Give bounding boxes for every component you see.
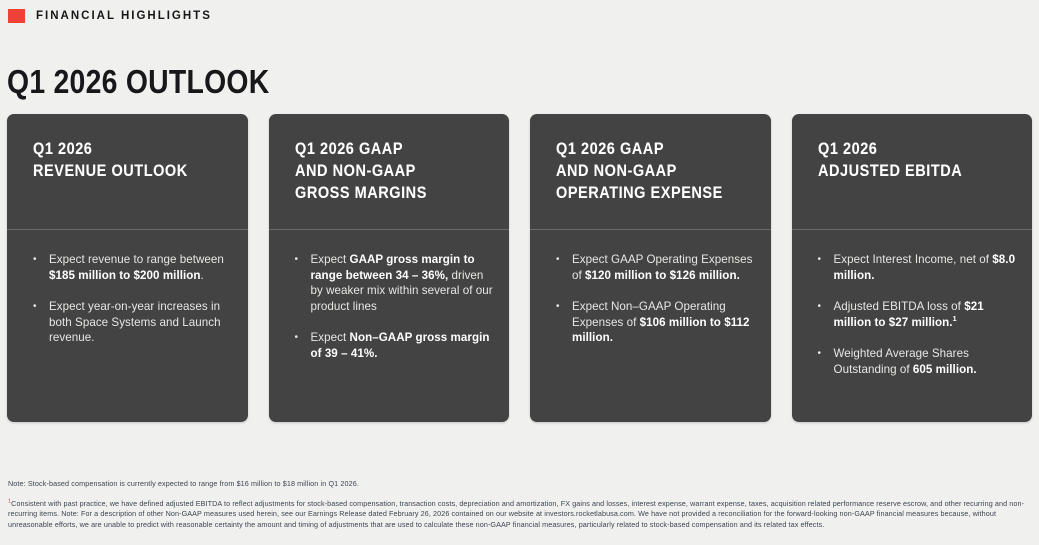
footnote-note: Note: Stock-based compensation is curren…: [8, 479, 1032, 489]
card-title: Q1 2026 GAAP AND NON-GAAP OPERATING EXPE…: [556, 138, 729, 204]
red-square-icon: [8, 9, 25, 23]
list-item: Adjusted EBITDA loss of $21 million to $…: [818, 299, 1017, 330]
card-title: Q1 2026 REVENUE OUTLOOK: [33, 138, 206, 182]
card-body: Expect GAAP gross margin to range betwee…: [269, 230, 510, 422]
card-title: Q1 2026 GAAP AND NON-GAAP GROSS MARGINS: [295, 138, 468, 204]
card-gross-margins: Q1 2026 GAAP AND NON-GAAP GROSS MARGINS …: [269, 114, 510, 422]
list-item: Expect GAAP Operating Expenses of $120 m…: [556, 252, 755, 283]
kicker-label: FINANCIAL HIGHLIGHTS: [36, 9, 212, 23]
bullet-list: Expect revenue to range between $185 mil…: [33, 252, 232, 346]
card-body: Expect revenue to range between $185 mil…: [7, 230, 248, 422]
card-operating-expense: Q1 2026 GAAP AND NON-GAAP OPERATING EXPE…: [530, 114, 771, 422]
list-item: Expect year-on-year increases in both Sp…: [33, 299, 232, 346]
list-item: Expect Non–GAAP Operating Expenses of $1…: [556, 299, 755, 346]
card-body: Expect GAAP Operating Expenses of $120 m…: [530, 230, 771, 422]
bullet-list: Expect Interest Income, net of $8.0 mill…: [818, 252, 1017, 377]
card-revenue-outlook: Q1 2026 REVENUE OUTLOOK Expect revenue t…: [7, 114, 248, 422]
list-item: Weighted Average Shares Outstanding of 6…: [818, 346, 1017, 377]
outlook-card-row: Q1 2026 REVENUE OUTLOOK Expect revenue t…: [7, 114, 1032, 422]
card-header: Q1 2026 GAAP AND NON-GAAP OPERATING EXPE…: [530, 114, 771, 230]
page-title: Q1 2026 OUTLOOK: [7, 64, 270, 100]
list-item: Expect Non–GAAP gross margin of 39 – 41%…: [295, 330, 494, 361]
card-body: Expect Interest Income, net of $8.0 mill…: [792, 230, 1033, 422]
card-title: Q1 2026 ADJUSTED EBITDA: [818, 138, 991, 182]
footnotes-block: Note: Stock-based compensation is curren…: [8, 479, 1032, 530]
bullet-list: Expect GAAP Operating Expenses of $120 m…: [556, 252, 755, 346]
list-item: Expect GAAP gross margin to range betwee…: [295, 252, 494, 314]
list-item: Expect revenue to range between $185 mil…: [33, 252, 232, 283]
card-header: Q1 2026 ADJUSTED EBITDA: [792, 114, 1033, 230]
footnote-1: 1Consistent with past practice, we have …: [8, 499, 1032, 530]
card-header: Q1 2026 REVENUE OUTLOOK: [7, 114, 248, 230]
card-adjusted-ebitda: Q1 2026 ADJUSTED EBITDA Expect Interest …: [792, 114, 1033, 422]
card-header: Q1 2026 GAAP AND NON-GAAP GROSS MARGINS: [269, 114, 510, 230]
eyebrow-kicker: FINANCIAL HIGHLIGHTS: [8, 8, 212, 24]
list-item: Expect Interest Income, net of $8.0 mill…: [818, 252, 1017, 283]
bullet-list: Expect GAAP gross margin to range betwee…: [295, 252, 494, 361]
